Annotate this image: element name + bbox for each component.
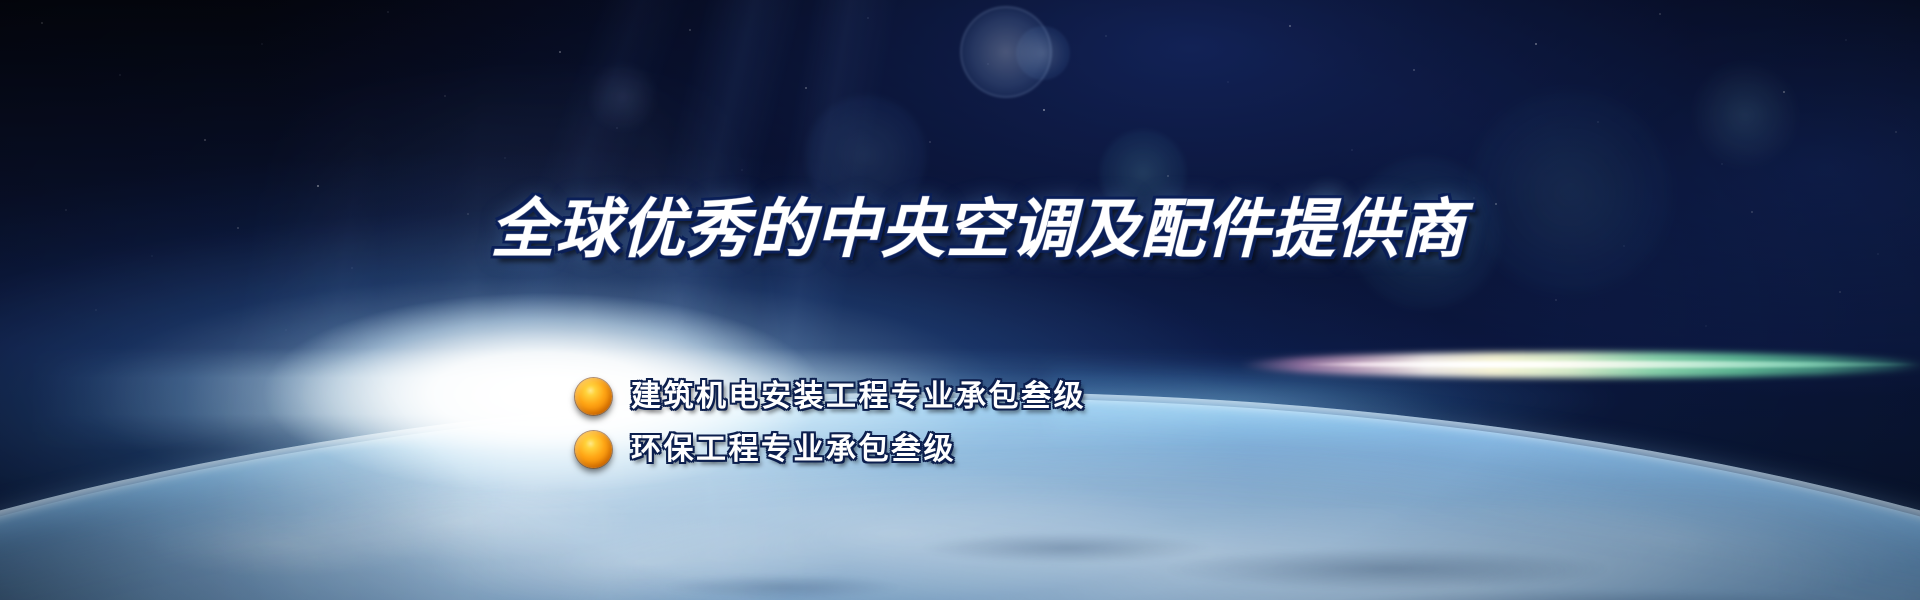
orange-sphere-bullet-icon	[575, 431, 612, 468]
orange-sphere-bullet-icon	[575, 378, 612, 415]
banner-content: 全球优秀的中央空调及配件提供商 建筑机电安装工程专业承包叁级 环保工程专业承包叁…	[0, 0, 1920, 600]
list-item: 环保工程专业承包叁级	[575, 431, 1086, 468]
page-title: 全球优秀的中央空调及配件提供商	[18, 198, 1920, 262]
credentials-list: 建筑机电安装工程专业承包叁级 环保工程专业承包叁级	[575, 378, 1086, 468]
list-item: 建筑机电安装工程专业承包叁级	[575, 378, 1086, 415]
hero-banner: 全球优秀的中央空调及配件提供商 建筑机电安装工程专业承包叁级 环保工程专业承包叁…	[0, 0, 1920, 600]
list-item-label: 环保工程专业承包叁级	[631, 435, 956, 465]
list-item-label: 建筑机电安装工程专业承包叁级	[631, 382, 1086, 412]
